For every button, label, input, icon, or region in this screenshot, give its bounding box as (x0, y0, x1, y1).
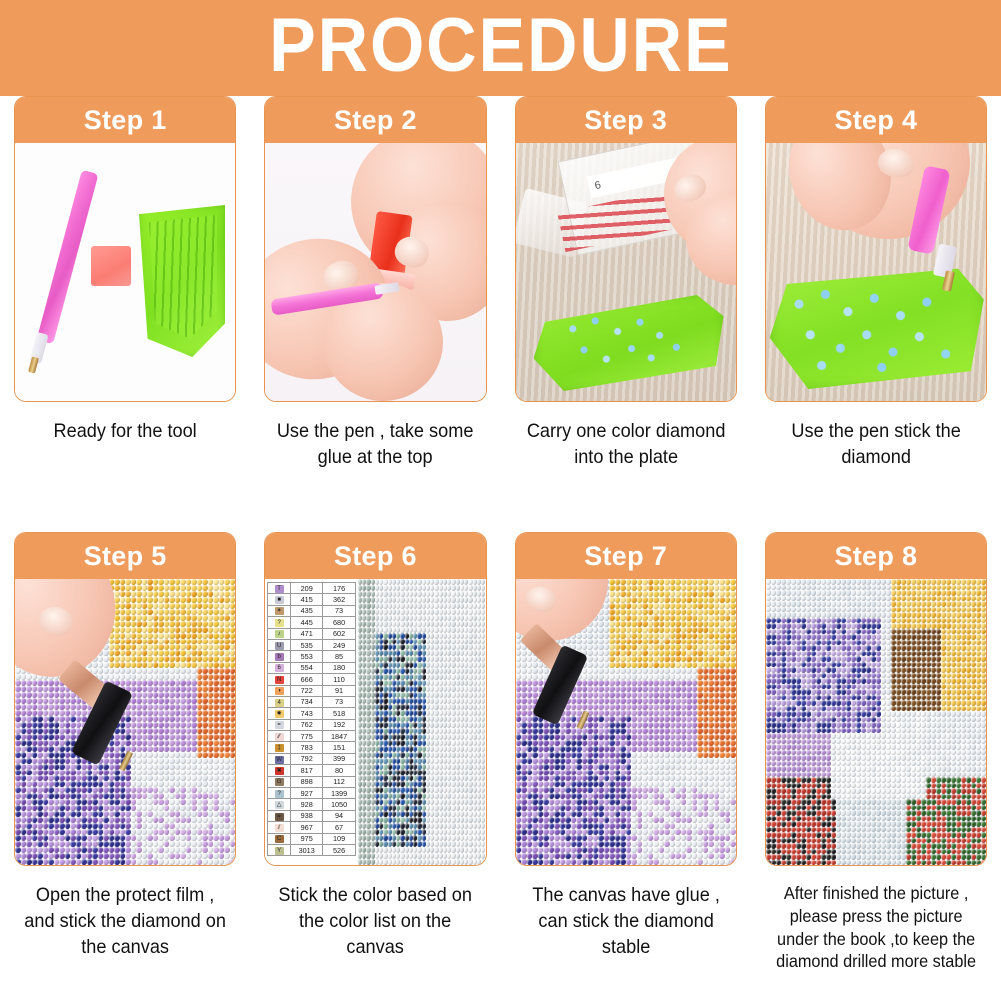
color-list-row: =762192 (268, 719, 356, 730)
color-count-cell: 112 (323, 776, 355, 787)
step-4-card: Step 4 (765, 96, 987, 402)
color-list-row: ✖81780 (268, 765, 356, 776)
procedure-infographic: PROCEDURE Step 1 Ready for the to (0, 0, 1001, 1001)
step-2-caption: Use the pen , take some glue at the top (272, 418, 479, 470)
color-symbol-cell: ? (268, 788, 291, 799)
color-list-row: ‡783151 (268, 742, 356, 753)
color-symbol-cell: 4 (268, 696, 291, 707)
color-code-cell: 792 (291, 753, 323, 764)
color-list-row: N666110 (268, 674, 356, 685)
color-swatch: ‡ (275, 744, 284, 752)
color-list-row: ⫽96767 (268, 822, 356, 833)
color-swatch: b (275, 653, 284, 661)
color-swatch: ⌗ (275, 813, 284, 821)
color-symbol-cell: N (268, 674, 291, 685)
color-list-row: ♪471602 (268, 628, 356, 639)
color-count-cell: 680 (323, 617, 355, 628)
color-symbol-cell: Y (268, 844, 291, 855)
step-card-7: Step 7 The canvas have glue , can stick … (501, 532, 751, 1001)
step-card-4: Step 4 Use the pen stick the d (751, 96, 1001, 532)
color-symbol-cell: T (268, 583, 291, 594)
bag-number: 6 (593, 179, 601, 192)
color-code-cell: 666 (291, 674, 323, 685)
color-symbol-cell: ✶ (268, 605, 291, 616)
step-8-image (766, 579, 986, 865)
color-list-panel: T209176■415362✶43573?445680♪471602U53524… (265, 579, 358, 865)
color-list-row: △9281050 (268, 799, 356, 810)
step-card-8: Step 8 After finished the picture , plea… (751, 532, 1001, 1001)
step-6-caption: Stick the color based on the color list … (272, 882, 479, 960)
color-list-row: 473473 (268, 696, 356, 707)
color-swatch: 4 (275, 699, 284, 707)
color-code-cell: 435 (291, 605, 323, 616)
step-4-image (766, 143, 986, 401)
color-list-row: ⁄⁄7751847 (268, 731, 356, 742)
step-3-caption: Carry one color diamond into the plate (522, 418, 729, 470)
color-swatch: 6 (275, 664, 284, 672)
color-swatch: W (275, 756, 284, 764)
color-code-cell: 415 (291, 594, 323, 605)
color-code-cell: 209 (291, 583, 323, 594)
step-5-header: Step 5 (15, 533, 235, 579)
color-count-cell: 73 (323, 696, 355, 707)
color-swatch: ✖ (275, 767, 284, 775)
color-symbol-cell: ⫽ (268, 822, 291, 833)
step-1-caption: Ready for the tool (22, 418, 229, 444)
color-list-row: ✶43573 (268, 605, 356, 616)
step-1-card: Step 1 (14, 96, 236, 402)
color-count-cell: 1847 (323, 731, 355, 742)
color-count-cell: 362 (323, 594, 355, 605)
step-8-card: Step 8 (765, 532, 987, 866)
color-swatch: ? (275, 619, 284, 627)
step-5-image (15, 579, 235, 865)
color-symbol-cell: ‡ (268, 742, 291, 753)
color-count-cell: 73 (323, 605, 355, 616)
color-swatch: ⁄⁄ (275, 733, 284, 741)
color-count-cell: 249 (323, 639, 355, 650)
color-count-cell: 526 (323, 844, 355, 855)
color-symbol-cell: W (268, 753, 291, 764)
step-2-image (265, 143, 485, 401)
color-list-table: T209176■415362✶43573?445680♪471602U53524… (267, 582, 356, 856)
step-2-header: Step 2 (265, 97, 485, 143)
step-card-6: Step 6 T209176■415362✶43573?445680♪47160… (250, 532, 500, 1001)
color-swatch: = (275, 721, 284, 729)
step-4-header: Step 4 (766, 97, 986, 143)
blue-diamonds-icon (556, 309, 696, 375)
color-swatch: ◑ (275, 687, 284, 695)
diamond-canvas (358, 579, 486, 865)
page-title: PROCEDURE (269, 8, 732, 88)
color-list-row: Y3013526 (268, 844, 356, 855)
step-card-1: Step 1 Ready for the tool (0, 96, 250, 532)
step-8-caption: After finished the picture , please pres… (773, 882, 980, 973)
color-swatch: △ (275, 801, 284, 809)
color-count-cell: 85 (323, 651, 355, 662)
color-list-row: ⌗93894 (268, 810, 356, 821)
step-8-header: Step 8 (766, 533, 986, 579)
color-count-cell: 602 (323, 628, 355, 639)
pink-pen-icon (37, 170, 99, 344)
step-card-3: Step 3 6 (501, 96, 751, 532)
color-list-row: C975109 (268, 833, 356, 844)
color-list-row: b55385 (268, 651, 356, 662)
color-code-cell: 471 (291, 628, 323, 639)
step-2-card: Step 2 (264, 96, 486, 402)
color-swatch: Y (275, 847, 284, 855)
color-symbol-cell: ■ (268, 594, 291, 605)
color-count-cell: 176 (323, 583, 355, 594)
color-symbol-cell: = (268, 719, 291, 730)
color-count-cell: 91 (323, 685, 355, 696)
color-symbol-cell: ◑ (268, 685, 291, 696)
diamond-canvas (766, 579, 986, 865)
step-7-image (516, 579, 736, 865)
steps-grid: Step 1 Ready for the tool Step 2 (0, 96, 1001, 1001)
step-card-5: Step 5 Open the protect film , and stick… (0, 532, 250, 1001)
color-swatch: ■ (275, 596, 284, 604)
color-code-cell: 783 (291, 742, 323, 753)
color-code-cell: 722 (291, 685, 323, 696)
color-code-cell: 3013 (291, 844, 323, 855)
color-list-row: T209176 (268, 583, 356, 594)
color-count-cell: 1399 (323, 788, 355, 799)
color-code-cell: 928 (291, 799, 323, 810)
step-4-caption: Use the pen stick the diamond (773, 418, 980, 470)
color-code-cell: 967 (291, 822, 323, 833)
color-list-row: W792399 (268, 753, 356, 764)
color-swatch: ? (275, 790, 284, 798)
color-list-row: 6554180 (268, 662, 356, 673)
color-swatch: ✶ (275, 607, 284, 615)
color-symbol-cell: ♪ (268, 628, 291, 639)
blue-diamonds-icon (784, 281, 972, 377)
color-code-cell: 898 (291, 776, 323, 787)
color-count-cell: 399 (323, 753, 355, 764)
color-count-cell: 80 (323, 765, 355, 776)
step-3-image: 6 (516, 143, 736, 401)
color-list-row: ?9271399 (268, 788, 356, 799)
step-7-header: Step 7 (516, 533, 736, 579)
color-list-row: G898112 (268, 776, 356, 787)
color-code-cell: 535 (291, 639, 323, 650)
color-symbol-cell: △ (268, 799, 291, 810)
color-swatch: T (275, 585, 284, 593)
step-5-caption: Open the protect film , and stick the di… (22, 882, 229, 960)
step-card-2: Step 2 Use the pe (250, 96, 500, 532)
color-symbol-cell: b (268, 651, 291, 662)
color-code-cell: 775 (291, 731, 323, 742)
color-swatch: ✸ (275, 710, 284, 718)
step-5-card: Step 5 (14, 532, 236, 866)
step-1-image (15, 143, 235, 401)
color-code-cell: 927 (291, 788, 323, 799)
color-count-cell: 518 (323, 708, 355, 719)
color-code-cell: 743 (291, 708, 323, 719)
color-list-row: ■415362 (268, 594, 356, 605)
color-code-cell: 554 (291, 662, 323, 673)
color-code-cell: 553 (291, 651, 323, 662)
color-symbol-cell: 6 (268, 662, 291, 673)
color-swatch: C (275, 835, 284, 843)
color-list-row: ?445680 (268, 617, 356, 628)
color-code-cell: 734 (291, 696, 323, 707)
color-list-row: ✸743518 (268, 708, 356, 719)
color-symbol-cell: ✸ (268, 708, 291, 719)
color-swatch: ⫽ (275, 824, 284, 832)
color-symbol-cell: C (268, 833, 291, 844)
step-6-header: Step 6 (265, 533, 485, 579)
step-6-card: Step 6 T209176■415362✶43573?445680♪47160… (264, 532, 486, 866)
color-count-cell: 192 (323, 719, 355, 730)
color-count-cell: 1050 (323, 799, 355, 810)
color-symbol-cell: ✖ (268, 765, 291, 776)
color-swatch: ♪ (275, 630, 284, 638)
color-symbol-cell: U (268, 639, 291, 650)
color-symbol-cell: G (268, 776, 291, 787)
color-swatch: U (275, 642, 284, 650)
color-swatch: G (275, 778, 284, 786)
step-3-card: Step 3 6 (515, 96, 737, 402)
canvas-area (358, 579, 486, 865)
color-symbol-cell: ? (268, 617, 291, 628)
glue-square-icon (91, 246, 131, 286)
color-count-cell: 94 (323, 810, 355, 821)
color-code-cell: 817 (291, 765, 323, 776)
color-count-cell: 109 (323, 833, 355, 844)
color-symbol-cell: ⌗ (268, 810, 291, 821)
step-1-header: Step 1 (15, 97, 235, 143)
color-count-cell: 151 (323, 742, 355, 753)
color-code-cell: 762 (291, 719, 323, 730)
step-7-card: Step 7 (515, 532, 737, 866)
color-list-row: ◑72291 (268, 685, 356, 696)
color-swatch: N (275, 676, 284, 684)
color-symbol-cell: ⁄⁄ (268, 731, 291, 742)
color-code-cell: 975 (291, 833, 323, 844)
color-list-row: U535249 (268, 639, 356, 650)
color-code-cell: 445 (291, 617, 323, 628)
step-6-image: T209176■415362✶43573?445680♪471602U53524… (265, 579, 485, 865)
step-7-caption: The canvas have glue , can stick the dia… (522, 882, 729, 960)
header-banner: PROCEDURE (0, 0, 1001, 96)
step-3-header: Step 3 (516, 97, 736, 143)
color-code-cell: 938 (291, 810, 323, 821)
color-count-cell: 67 (323, 822, 355, 833)
color-count-cell: 180 (323, 662, 355, 673)
color-count-cell: 110 (323, 674, 355, 685)
